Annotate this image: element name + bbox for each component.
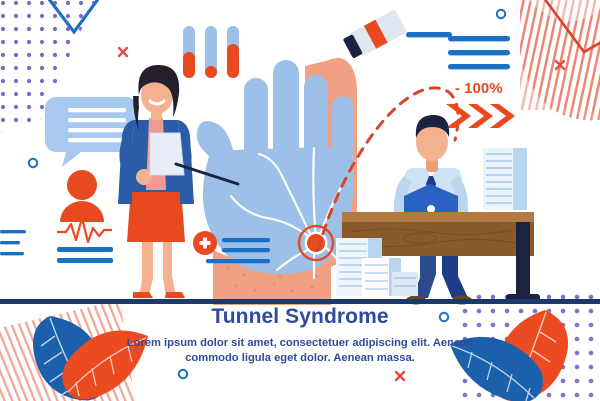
- poster-canvas: - 100% Tunnel Syndrome Lorem ipsum dolor…: [0, 0, 600, 401]
- stat-label: - 100%: [455, 80, 545, 97]
- page-subtitle: Lorem ipsum dolor sit amet, consectetuer…: [100, 336, 500, 366]
- page-title: Tunnel Syndrome: [0, 305, 600, 329]
